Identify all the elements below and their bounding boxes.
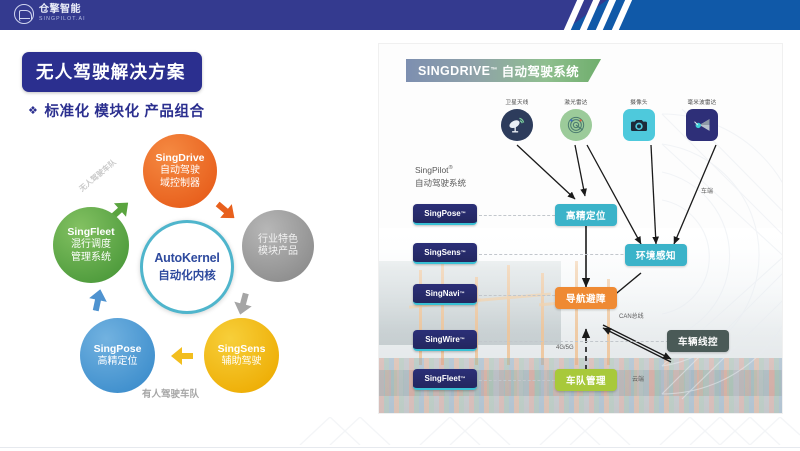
singpilot-name: SingPilot [415, 165, 449, 175]
function-box-navigation[interactable]: 导航避障 [555, 287, 617, 309]
bubble-industry-modules[interactable]: 行业特色 模块产品 [242, 210, 314, 282]
note-can-bus: CAN总线 [619, 311, 644, 320]
product-box-singwire[interactable]: SingWire™ [413, 330, 477, 351]
banner-text-cn: 自动驾驶系统 [502, 61, 579, 80]
arrow-blue-to-green [86, 287, 110, 313]
product-tm-4: ™ [461, 376, 466, 382]
page-subtitle: ❖ 标准化 模块化 产品组合 [28, 100, 205, 121]
bubble-singfleet-en: SingFleet [67, 226, 114, 239]
sensor-lidar[interactable]: 激光雷达 [559, 98, 593, 141]
singpilot-system-label: SingPilot® 自动驾驶系统 [415, 164, 466, 190]
bubble-singsens-en: SingSens [218, 343, 266, 356]
product-name-4: SingFleet [424, 374, 460, 383]
singpilot-registered-mark: ® [449, 165, 453, 171]
brand-name-en: SINGPILOT.AI [39, 17, 86, 22]
singdrive-system-diagram: SINGDRIVE™ 自动驾驶系统 卫星天线 激光雷达 [378, 43, 783, 414]
product-name-0: SingPose [424, 209, 460, 218]
dashline-singwire [479, 341, 679, 342]
bottom-decoration [0, 417, 800, 445]
banner-text-en: SINGDRIVE [418, 64, 490, 78]
label-unmanned-fleet: 无人驾驶车队 [77, 157, 119, 194]
dashline-singnavi [479, 295, 555, 296]
banner-tm: ™ [490, 67, 497, 74]
bubble-singfleet-cn1: 混行调度 [71, 239, 111, 252]
bubble-singdrive-en: SingDrive [155, 152, 204, 165]
function-box-drive-by-wire[interactable]: 车辆线控 [667, 330, 729, 352]
product-tm-3: ™ [460, 337, 465, 343]
sensor-label-2: 摄像头 [630, 98, 647, 106]
bubble-industry-cn2: 模块产品 [258, 246, 298, 259]
page-title: 无人驾驶解决方案 [22, 52, 202, 92]
bubble-singfleet[interactable]: SingFleet 混行调度 管理系统 [53, 207, 129, 283]
product-name-1: SingSens [424, 248, 460, 257]
dashline-singpose [479, 215, 555, 216]
diamond-bullet-icon: ❖ [28, 104, 38, 117]
product-name-3: SingWire [425, 335, 460, 344]
bubble-singsens[interactable]: SingSens 辅助驾驶 [204, 318, 279, 393]
brand-logo-text: 仓擎智能 SINGPILOT.AI [39, 5, 86, 22]
arrow-yellow-to-blue [171, 346, 193, 366]
core-autokernel[interactable]: AutoKernel 自动化内核 [140, 220, 234, 314]
page-subtitle-text: 标准化 模块化 产品组合 [44, 100, 204, 121]
function-box-perception[interactable]: 环境感知 [625, 244, 687, 266]
note-cloud: 云端 [632, 374, 644, 383]
sensor-camera[interactable]: 摄像头 [622, 98, 656, 141]
sensor-satellite-antenna[interactable]: 卫星天线 [500, 98, 534, 141]
function-box-fleet-management[interactable]: 车队管理 [555, 369, 617, 391]
mmwave-radar-icon [686, 109, 718, 141]
bubble-singpose[interactable]: SingPose 高精定位 [80, 318, 155, 393]
product-tm-1: ™ [461, 250, 466, 256]
core-name-en: AutoKernel [154, 251, 219, 265]
sensor-label-0: 卫星天线 [505, 98, 528, 106]
sensor-label-3: 毫米波雷达 [688, 98, 717, 106]
product-box-singpose[interactable]: SingPose™ [413, 204, 477, 225]
arrow-orange-to-grey [211, 196, 241, 225]
label-manned-fleet: 有人驾驶车队 [142, 386, 199, 400]
bubble-industry-cn1: 行业特色 [258, 234, 298, 247]
sensor-mmwave-radar[interactable]: 毫米波雷达 [685, 98, 719, 141]
product-tm-0: ™ [461, 211, 466, 217]
product-wheel-diagram: SingDrive 自动驾驶 域控制器 SingFleet 混行调度 管理系统 … [32, 128, 362, 418]
top-header-bar: 仓擎智能 SINGPILOT.AI [0, 0, 800, 30]
slide-root: 仓擎智能 SINGPILOT.AI 无人驾驶解决方案 ❖ 标准化 模块化 产品组… [0, 0, 800, 451]
note-network: 4G/5G [556, 345, 574, 351]
product-box-singsens[interactable]: SingSens™ [413, 243, 477, 264]
bottom-divider [0, 447, 800, 448]
product-name-2: SingNavi [425, 289, 459, 298]
bubble-singdrive-cn1: 自动驾驶 [160, 165, 200, 178]
lidar-icon [560, 109, 592, 141]
diagram-title-banner: SINGDRIVE™ 自动驾驶系统 [406, 59, 601, 82]
singpilot-name-cn: 自动驾驶系统 [415, 178, 466, 188]
function-box-positioning[interactable]: 高精定位 [555, 204, 617, 226]
bubble-singfleet-cn2: 管理系统 [71, 252, 111, 265]
product-box-singfleet[interactable]: SingFleet™ [413, 369, 477, 390]
bubble-singdrive[interactable]: SingDrive 自动驾驶 域控制器 [143, 134, 217, 208]
camera-icon [623, 109, 655, 141]
bubble-singpose-cn1: 高精定位 [98, 356, 138, 369]
satellite-antenna-icon [501, 109, 533, 141]
sensor-label-1: 激光雷达 [564, 98, 587, 106]
singpilot-logo-icon [14, 4, 34, 24]
product-tm-2: ™ [460, 291, 465, 297]
bubble-singpose-en: SingPose [94, 343, 142, 356]
core-name-cn: 自动化内核 [158, 267, 216, 283]
brand-logo[interactable]: 仓擎智能 SINGPILOT.AI [14, 4, 86, 24]
dashline-singfleet [479, 380, 555, 381]
brand-name-cn: 仓擎智能 [39, 5, 86, 15]
bubble-singdrive-cn2: 域控制器 [160, 178, 200, 191]
bubble-singsens-cn1: 辅助驾驶 [222, 356, 262, 369]
product-box-singnavi[interactable]: SingNavi™ [413, 284, 477, 305]
note-vehicle-side: 车端 [701, 186, 713, 195]
arrow-grey-to-yellow [230, 291, 255, 317]
